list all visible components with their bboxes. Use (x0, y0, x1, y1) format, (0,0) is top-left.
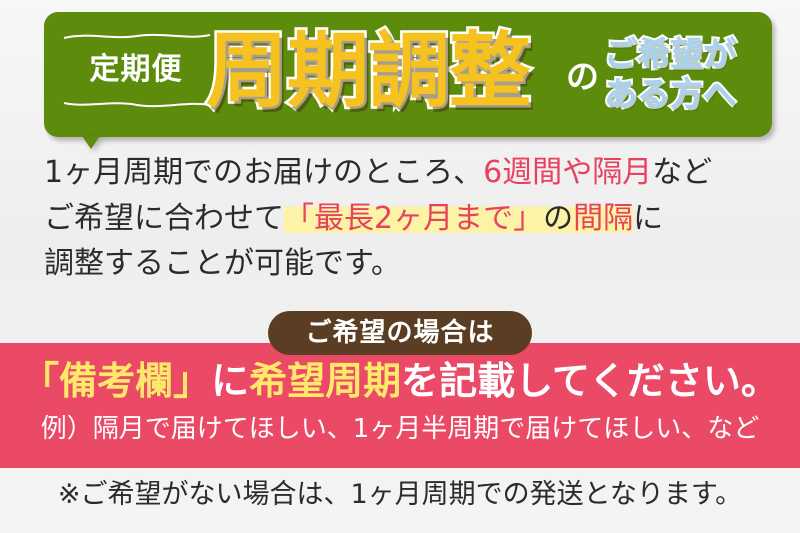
body-line-2: ご希望に合わせて「最長2ヶ月まで」の間隔に (44, 196, 760, 242)
instruction-example: 例）隔月で届けてほしい、1ヶ月半周期で届けてほしい、など (0, 415, 800, 444)
header-bubble-tail (82, 136, 100, 149)
body-line-1: 1ヶ月周期でのお届けのところ、6週間や隔月など (44, 150, 760, 196)
header-title-text: 周期調整 (206, 31, 530, 113)
body-line2-part-c: の (543, 201, 573, 236)
subscription-badge-label: 定期便 (90, 55, 183, 85)
body-line1-part-c: や (562, 155, 592, 190)
instruction-part-d: を記載してください。 (401, 359, 779, 403)
header-aside-line1: ご希望が (604, 34, 774, 74)
instruction-desired-cycle: 希望周期 (249, 359, 401, 403)
body-line-3: 調整することが可能です。 (44, 241, 760, 287)
body-line2-highlight-maxtwomonths: 「最長2ヶ月まで」 (284, 201, 543, 236)
header-aside: ご希望が ある方へ (604, 22, 774, 126)
instruction-band: 「備考欄」に希望周期を記載してください。 例）隔月で届けてほしい、1ヶ月半周期で… (0, 343, 800, 468)
subscription-badge: 定期便 (66, 34, 206, 106)
request-pill: ご希望の場合は (268, 311, 532, 355)
header-title: 周期調整 (206, 16, 566, 128)
body-line1-emphasis-6weeks: 6週間 (483, 155, 562, 190)
request-pill-label: ご希望の場合は (305, 320, 494, 346)
body-line1-part-e: など (652, 155, 712, 190)
body-line2-highlight-interval: 間隔 (573, 201, 633, 236)
header-aside-line2: ある方へ (604, 74, 774, 114)
body-line2-part-e: に (633, 201, 663, 236)
body-line1-emphasis-bimonthly: 隔月 (592, 155, 652, 190)
instruction-part-b: に (211, 359, 249, 403)
header-title-particle: の (566, 60, 599, 93)
footer-note: ※ご希望がない場合は、1ヶ月周期での発送となります。 (0, 480, 800, 510)
instruction-headline: 「備考欄」に希望周期を記載してください。 (0, 361, 800, 403)
wave-decoration-bottom (62, 100, 212, 108)
body-line2-part-a: ご希望に合わせて (44, 201, 284, 236)
body-line1-part-a: 1ヶ月周期でのお届けのところ、 (44, 155, 483, 190)
banner-root: 定期便 周期調整 の ご希望が ある方へ 1ヶ月周期でのお届けのところ、6週間や… (0, 0, 800, 533)
instruction-remarks-field: 「備考欄」 (21, 359, 211, 403)
body-copy: 1ヶ月周期でのお届けのところ、6週間や隔月など ご希望に合わせて「最長2ヶ月まで… (44, 150, 760, 287)
